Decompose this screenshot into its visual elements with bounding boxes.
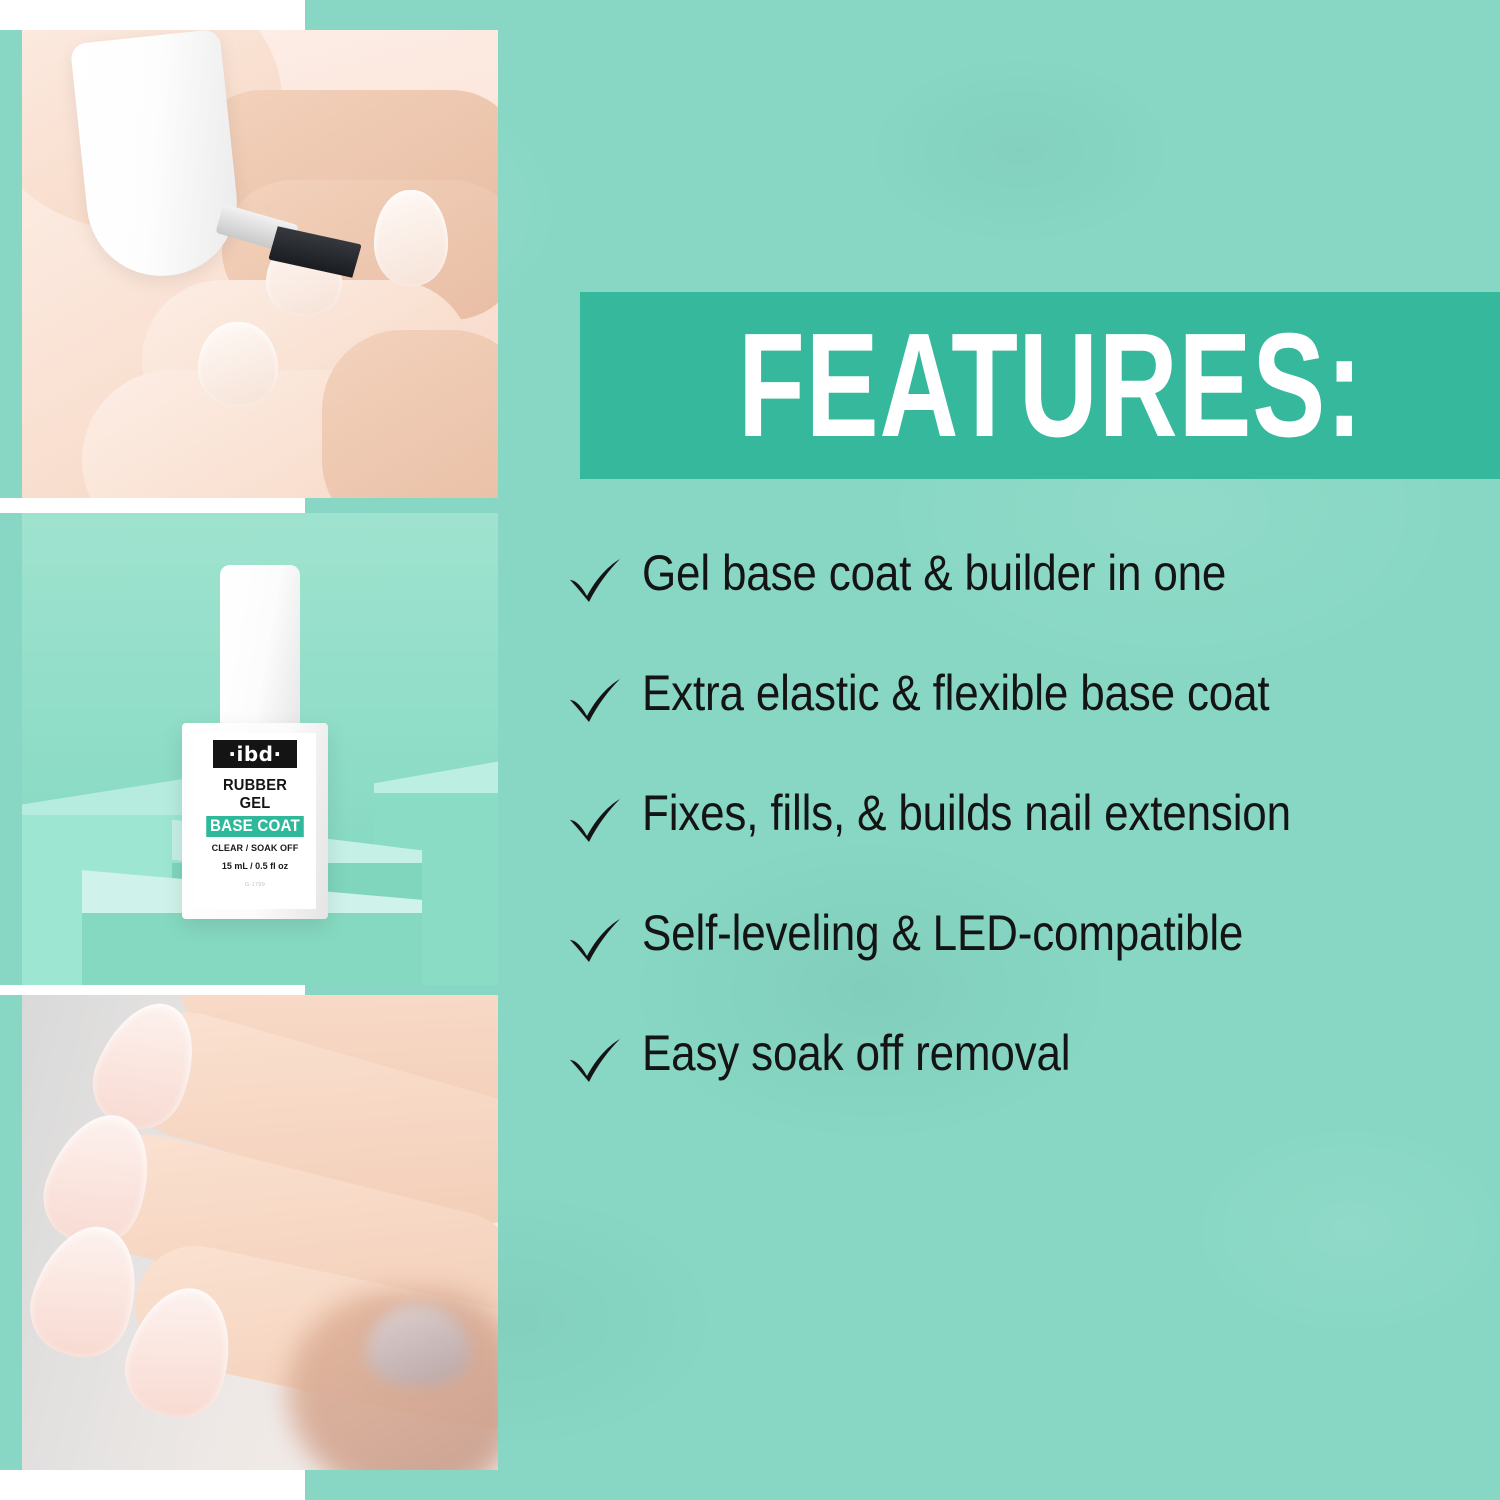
feature-text: Extra elastic & flexible base coat	[642, 668, 1269, 718]
product-label: ·ibd· RUBBER GEL BASE COAT CLEAR / SOAK …	[194, 733, 316, 909]
check-mark-icon	[566, 908, 642, 966]
feature-item: Extra elastic & flexible base coat	[566, 668, 1486, 788]
white-margin-bottom-left	[0, 1470, 305, 1500]
photo-finished-nails	[22, 995, 498, 1470]
photo-gap-2	[0, 985, 305, 995]
feature-text: Easy soak off removal	[642, 1028, 1070, 1078]
label-size: 15 mL / 0.5 fl oz	[202, 861, 308, 871]
label-line-rubber-gel: RUBBER GEL	[206, 777, 304, 813]
label-code: G-1799	[202, 882, 308, 888]
check-mark-icon	[566, 548, 642, 606]
feature-item: Gel base coat & builder in one	[566, 548, 1486, 668]
bottle-cap	[220, 565, 300, 737]
photo-applying-base-coat	[22, 30, 498, 498]
feature-list: Gel base coat & builder in one Extra ela…	[566, 548, 1486, 1148]
ibd-logo-text: ·ibd·	[228, 744, 281, 764]
feature-text: Self-leveling & LED-compatible	[642, 908, 1243, 958]
feature-item: Easy soak off removal	[566, 1028, 1486, 1148]
check-mark-icon	[566, 668, 642, 726]
photo-gap-1	[0, 498, 305, 513]
feature-text: Gel base coat & builder in one	[642, 548, 1226, 598]
feature-text: Fixes, fills, & builds nail extension	[642, 788, 1291, 838]
label-line-base-coat: BASE COAT	[206, 816, 304, 837]
page-title: FEATURES:	[738, 312, 1363, 460]
feature-item: Fixes, fills, & builds nail extension	[566, 788, 1486, 908]
poster-canvas: ·ibd· RUBBER GEL BASE COAT CLEAR / SOAK …	[0, 0, 1500, 1500]
photo-product-bottle: ·ibd· RUBBER GEL BASE COAT CLEAR / SOAK …	[22, 513, 498, 985]
features-header-band: FEATURES:	[580, 292, 1500, 479]
ibd-logo: ·ibd·	[213, 740, 297, 768]
check-mark-icon	[566, 1028, 642, 1086]
check-mark-icon	[566, 788, 642, 846]
feature-item: Self-leveling & LED-compatible	[566, 908, 1486, 1028]
white-margin-top-left	[0, 0, 305, 30]
label-line-clear-soak-off: CLEAR / SOAK OFF	[205, 843, 306, 854]
